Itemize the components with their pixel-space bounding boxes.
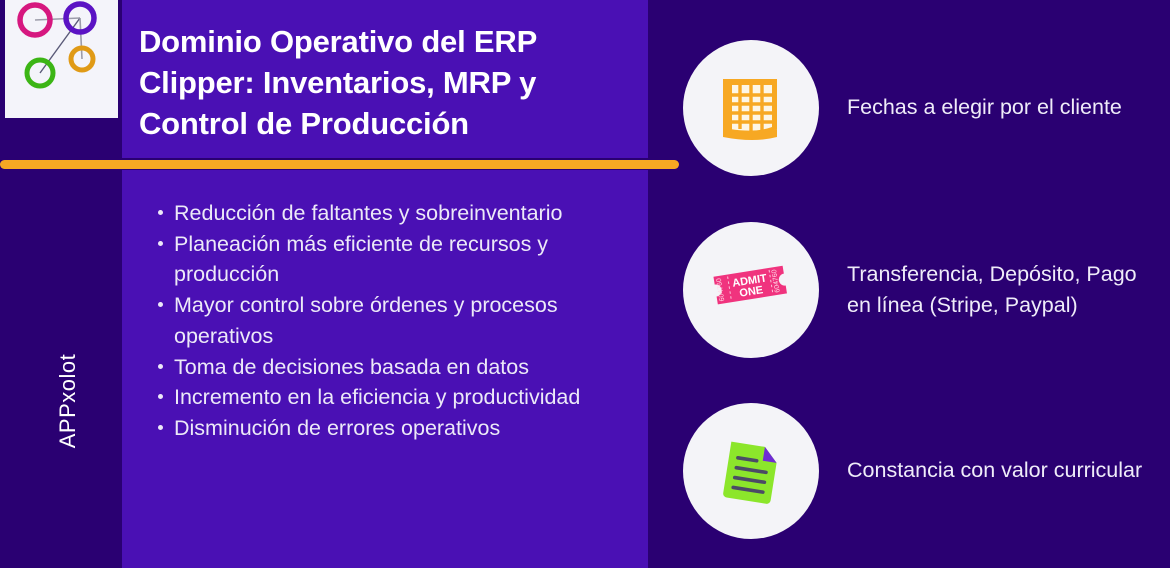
list-item: Toma de decisiones basada en datos: [158, 352, 638, 383]
icon-circle: ADMIT ONE 604760 604760: [683, 222, 819, 358]
feature-label: Constancia con valor curricular: [847, 455, 1147, 486]
slide-root: Dominio Operativo del ERP Clipper: Inven…: [0, 0, 1170, 568]
appxolot-node-graph-logo: [5, 0, 118, 118]
icon-circle: [683, 40, 819, 176]
feature-row-payments: ADMIT ONE 604760 604760 Transferencia, D…: [683, 222, 1147, 358]
certificate-document-icon: [711, 431, 791, 511]
feature-row-certificate: Constancia con valor curricular: [683, 403, 1147, 539]
calendar-icon: [714, 71, 788, 145]
list-item: Mayor control sobre órdenes y procesos o…: [158, 290, 638, 351]
list-item: Reducción de faltantes y sobreinventario: [158, 198, 638, 229]
list-item: Planeación más eficiente de recursos y p…: [158, 229, 638, 290]
feature-row-dates: Fechas a elegir por el cliente: [683, 40, 1147, 176]
orange-divider: [0, 160, 679, 169]
page-title: Dominio Operativo del ERP Clipper: Inven…: [139, 22, 639, 145]
feature-label: Fechas a elegir por el cliente: [847, 92, 1147, 123]
list-item: Disminución de errores operativos: [158, 413, 638, 444]
benefits-list: Reducción de faltantes y sobreinventario…: [158, 198, 638, 444]
list-item: Incremento en la eficiencia y productivi…: [158, 382, 638, 413]
logo-card: [5, 0, 118, 118]
ticket-icon: ADMIT ONE 604760 604760: [708, 253, 794, 327]
brand-vertical-label: APPxolot: [55, 331, 81, 471]
icon-circle: [683, 403, 819, 539]
feature-label: Transferencia, Depósito, Pago en línea (…: [847, 259, 1147, 321]
